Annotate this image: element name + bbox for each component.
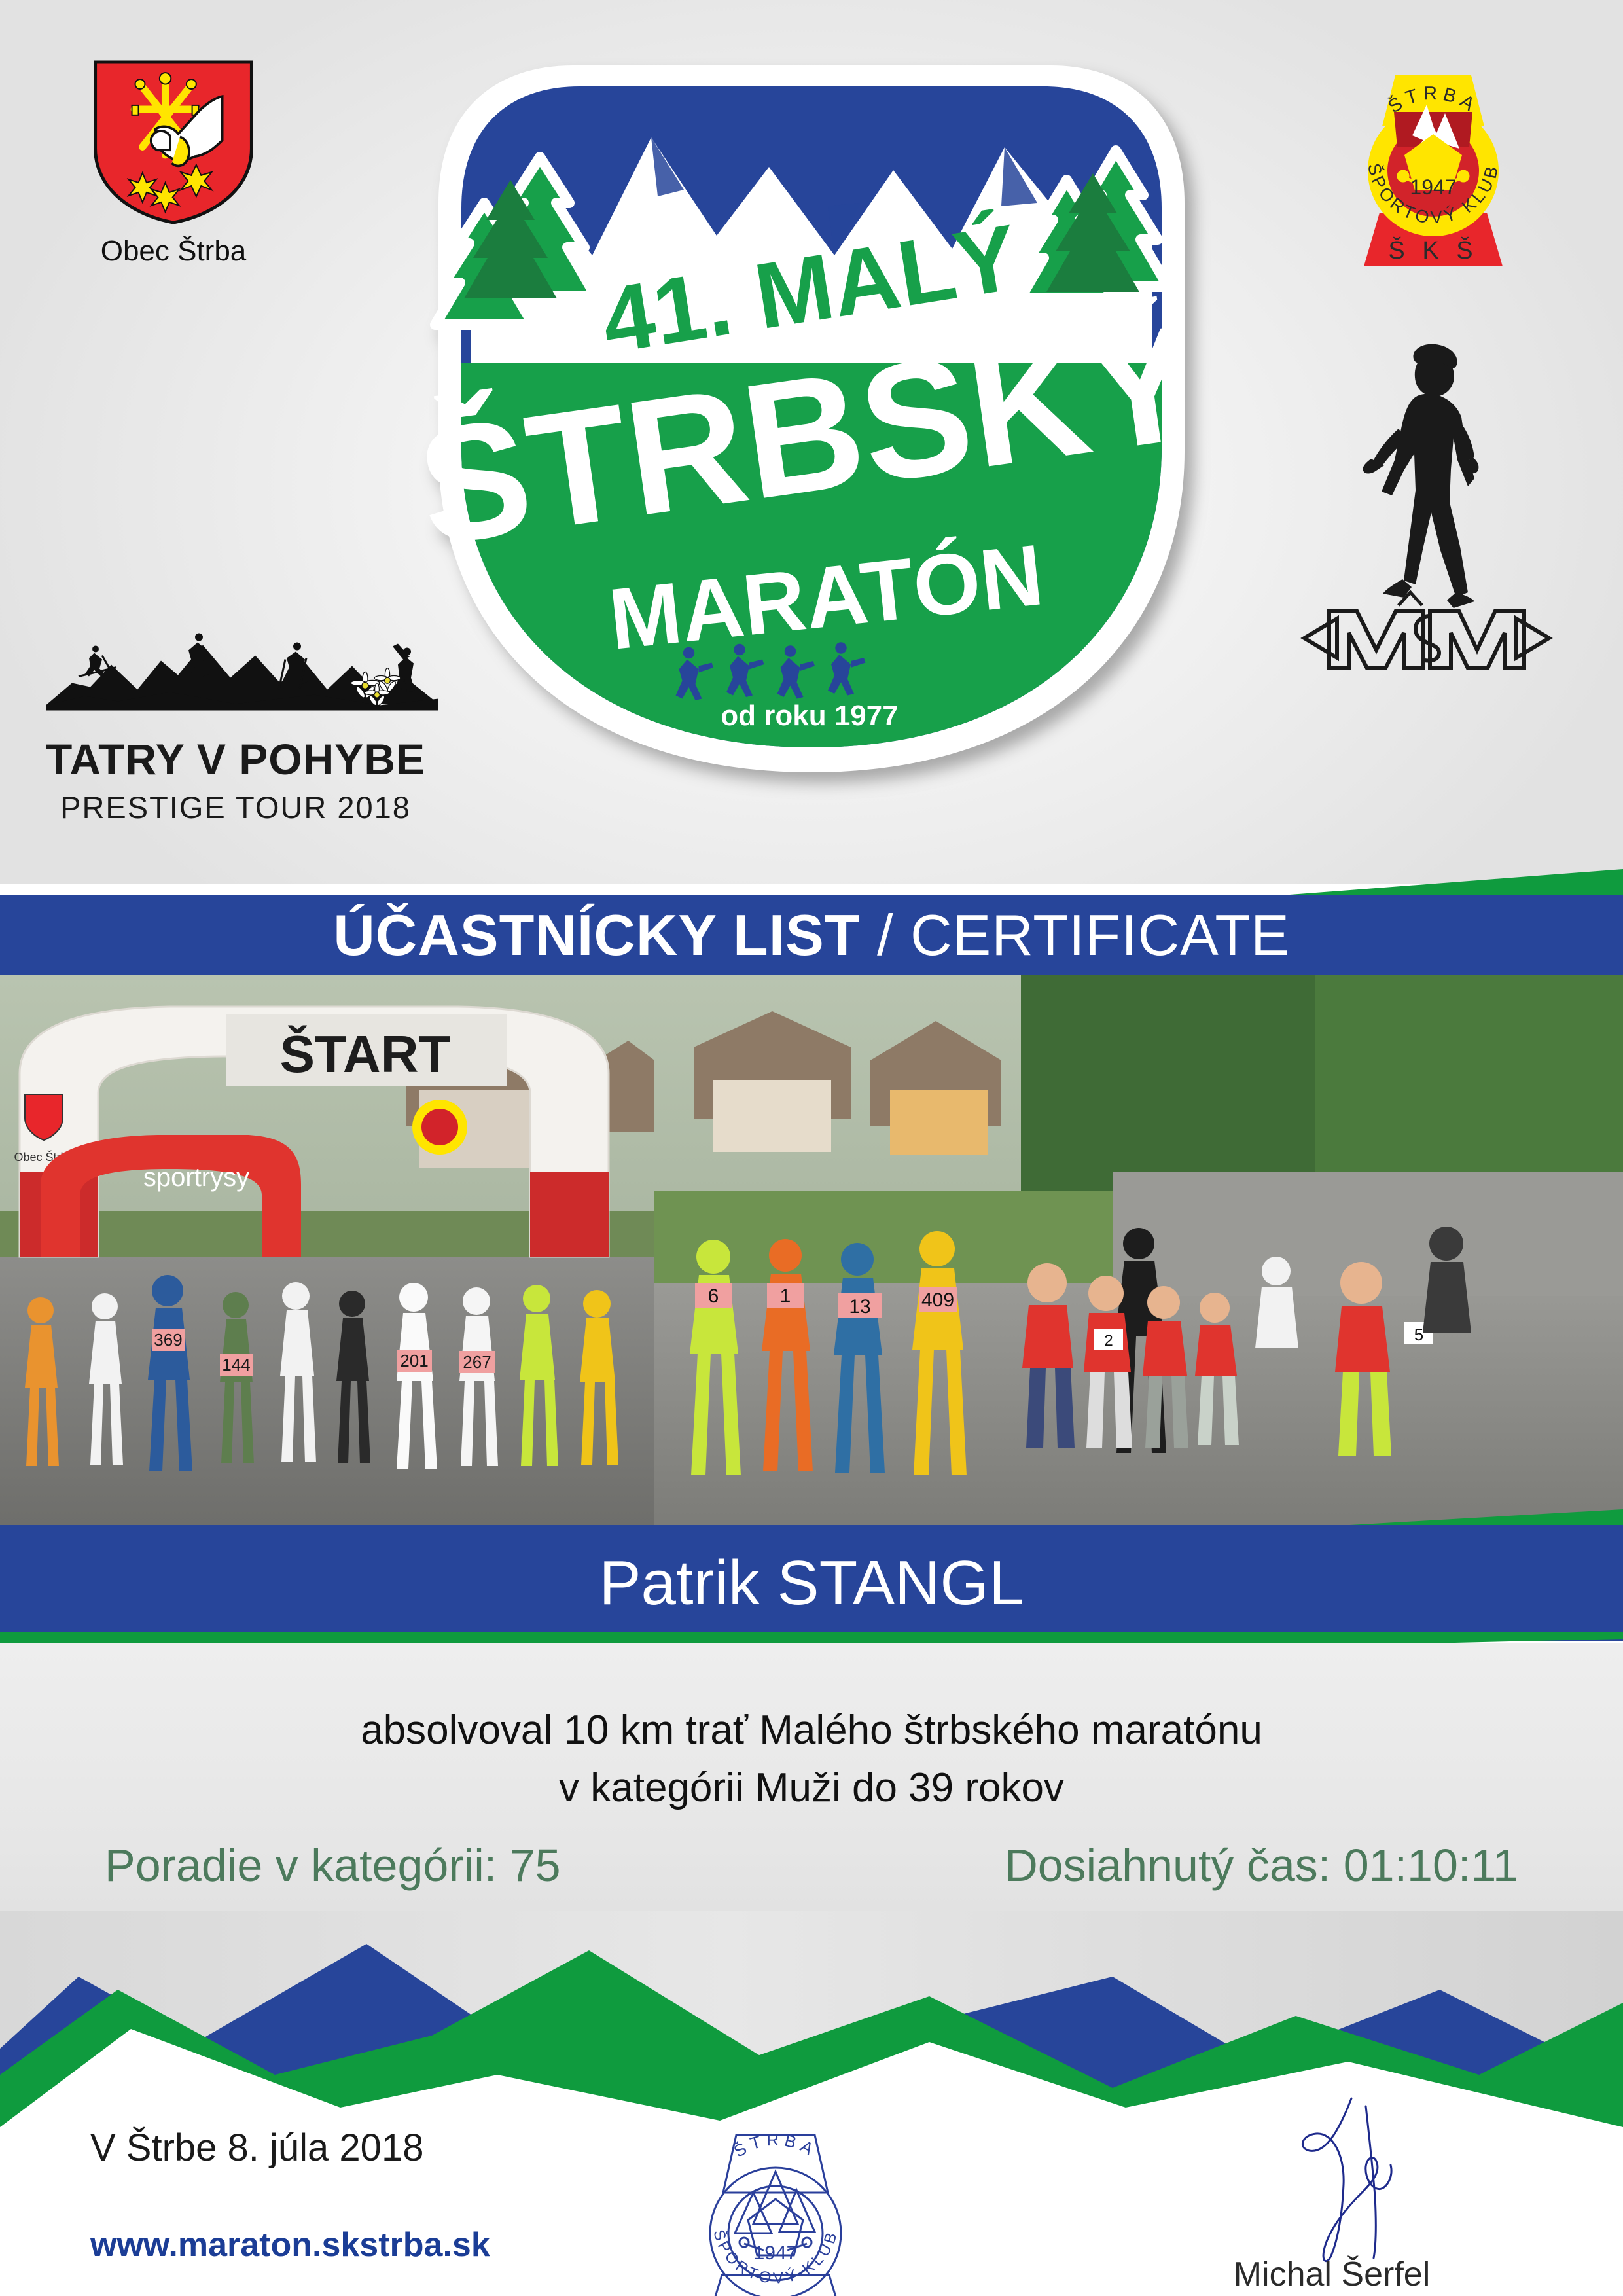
svg-text:409: 409 — [921, 1289, 954, 1311]
sks-club-logo: 1947 ŠTRBA ŠPORTOVÝ KLUB Š K Š — [1335, 49, 1531, 285]
category-rank-label: Poradie v kategórii: — [105, 1840, 497, 1891]
description-line-2: v kategórii Muži do 39 rokov — [0, 1759, 1623, 1817]
category-rank: Poradie v kategórii: 75 — [105, 1839, 561, 1892]
title-secondary: CERTIFICATE — [910, 903, 1290, 967]
obec-strba-crest: Obec Štrba — [92, 59, 255, 268]
stamp-year: 1947 — [754, 2242, 798, 2264]
title-primary: ÚČASTNÍCKY LIST — [333, 903, 860, 967]
svg-text:201: 201 — [400, 1351, 428, 1371]
certificate-page: Obec Štrba — [0, 0, 1623, 2296]
achievement-description: absolvoval 10 km trať Malého štrbského m… — [0, 1702, 1623, 1817]
svg-text:2: 2 — [1104, 1332, 1113, 1350]
sks-year: 1947 — [1410, 175, 1456, 199]
msm-runner-icon — [1299, 331, 1554, 697]
signature-name: Michal Šerfel — [1149, 2255, 1515, 2294]
club-stamp: 1947 ŠTRBA ŠPORTOVÝ KLUB Š K Š — [684, 2121, 867, 2296]
category-rank-value: 75 — [510, 1840, 561, 1891]
obec-strba-label: Obec Štrba — [92, 235, 255, 268]
race-photo-collage: ŠTART Obec Štrba sportrysy — [0, 975, 1623, 1525]
finish-time-value: 01:10:11 — [1344, 1840, 1518, 1891]
club-stamp-icon: 1947 ŠTRBA ŠPORTOVÝ KLUB Š K Š — [684, 2121, 867, 2296]
sponsor-arch-label: sportrysy — [143, 1163, 249, 1192]
certificate-footer: V Štrbe 8. júla 2018 www.maraton.skstrba… — [0, 2016, 1623, 2296]
svg-text:144: 144 — [222, 1355, 250, 1374]
event-logo-icon: 41. MALÝ ŠTRBSKÝ MARATÓN — [376, 39, 1247, 802]
certificate-header: Obec Štrba — [0, 0, 1623, 884]
sks-logo-icon: 1947 ŠTRBA ŠPORTOVÝ KLUB Š K Š — [1335, 49, 1531, 285]
certificate-title-band: ÚČASTNÍCKY LIST / CERTIFICATE — [0, 895, 1623, 975]
event-since-label: od roku 1977 — [721, 700, 898, 732]
participant-name: Patrik STANGL — [0, 1547, 1623, 1619]
participant-name-band: Patrik STANGL — [0, 1525, 1623, 1641]
event-website-link[interactable]: www.maraton.skstrba.sk — [90, 2225, 490, 2265]
page-title: ÚČASTNÍCKY LIST / CERTIFICATE — [333, 906, 1290, 964]
place-and-date: V Štrbe 8. júla 2018 — [90, 2126, 423, 2170]
title-separator: / — [861, 903, 910, 967]
tatry-title: TATRY V POHYBE — [46, 734, 458, 784]
svg-text:5: 5 — [1414, 1325, 1423, 1344]
svg-text:6: 6 — [708, 1285, 719, 1307]
crest-shield-icon — [92, 59, 255, 226]
tatry-mountain-icon — [39, 599, 445, 740]
event-logo-sticker: 41. MALÝ ŠTRBSKÝ MARATÓN — [376, 39, 1247, 802]
signature-block: Michal Šerfel riaditeľ pretekov — [1149, 2130, 1515, 2296]
svg-text:267: 267 — [463, 1352, 491, 1372]
start-arch-label: ŠTART — [280, 1025, 451, 1083]
tatry-subtitle: PRESTIGE TOUR 2018 — [39, 789, 432, 825]
description-line-1: absolvoval 10 km trať Malého štrbského m… — [0, 1702, 1623, 1759]
svg-text:1: 1 — [780, 1285, 791, 1307]
finish-time-label: Dosiahnutý čas: — [1005, 1840, 1330, 1891]
sks-bottom-text: Š K Š — [1388, 236, 1478, 264]
race-photo: ŠTART Obec Štrba sportrysy — [0, 975, 1623, 1525]
svg-text:369: 369 — [154, 1330, 182, 1350]
svg-text:13: 13 — [849, 1296, 870, 1318]
tatry-v-pohybe-logo: TATRY V POHYBE PRESTIGE TOUR 2018 — [39, 599, 458, 825]
finish-time: Dosiahnutý čas: 01:10:11 — [1005, 1839, 1518, 1892]
results-row: Poradie v kategórii: 75 Dosiahnutý čas: … — [105, 1839, 1518, 1892]
msm-logo — [1299, 331, 1554, 697]
